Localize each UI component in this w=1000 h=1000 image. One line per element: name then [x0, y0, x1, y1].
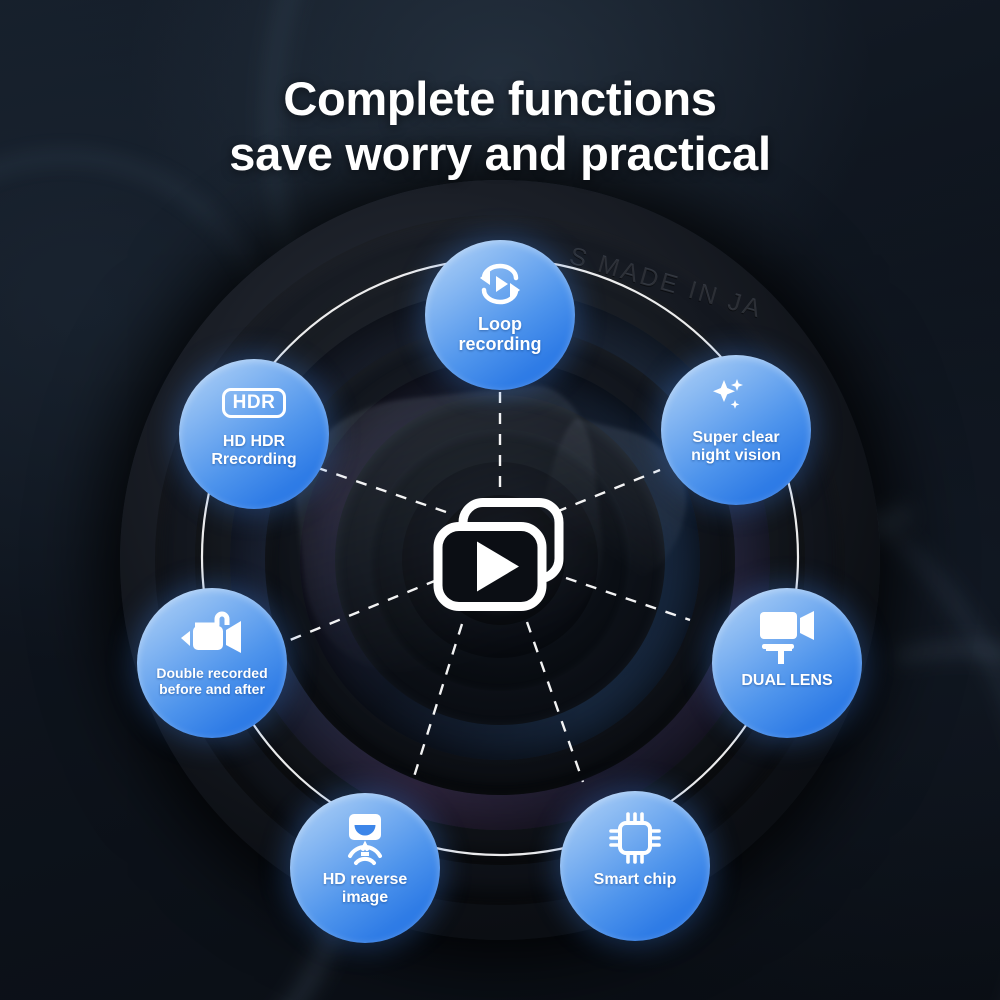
feature-label: Rrecording: [205, 451, 302, 469]
front-rear-camcorder-icon: [179, 606, 245, 662]
spoke-line: [556, 470, 660, 512]
feature-label: Super clear: [686, 429, 785, 447]
feature-label: image: [336, 889, 394, 907]
loop-play-icon: [472, 258, 528, 310]
center-logo: [430, 495, 570, 620]
spoke-line: [318, 468, 446, 512]
feature-badge-super-clear-night-vision[interactable]: Super clear night vision: [661, 355, 811, 505]
feature-badge-smart-chip[interactable]: Smart chip: [560, 791, 710, 941]
reverse-camera-sensor-icon: [336, 811, 394, 867]
feature-badge-double-recorded[interactable]: Double recorded before and after: [137, 588, 287, 738]
dual-camcorder-icon: [756, 606, 818, 668]
video-stack-play-icon: [430, 495, 570, 615]
feature-badge-loop-recording[interactable]: Loop recording: [425, 240, 575, 390]
spoke-line: [527, 622, 583, 782]
feature-label: before and after: [153, 682, 271, 698]
spoke-line: [412, 624, 462, 783]
feature-label: HD reverse: [317, 871, 414, 889]
feature-label: DUAL LENS: [735, 672, 838, 690]
feature-label: Double recorded: [150, 666, 273, 682]
hdr-badge-text: HDR: [222, 388, 287, 419]
feature-badge-hd-hdr-recording[interactable]: HDR HD HDR Rrecording: [179, 359, 329, 509]
feature-label: night vision: [685, 447, 787, 465]
moon-stars-icon: [708, 373, 764, 425]
spoke-line: [566, 578, 690, 620]
feature-badge-hd-reverse-image[interactable]: HD reverse image: [290, 793, 440, 943]
promo-infographic: S MADE IN JA Complete functions save wor…: [0, 0, 1000, 1000]
feature-label: Loop: [472, 314, 528, 334]
feature-label: recording: [452, 334, 547, 354]
feature-label: Smart chip: [588, 871, 683, 889]
hdr-badge-icon: HDR: [222, 377, 287, 429]
feature-label: HD HDR: [217, 433, 291, 451]
microchip-icon: [606, 809, 664, 867]
spoke-line: [290, 580, 437, 640]
feature-badge-dual-lens[interactable]: DUAL LENS: [712, 588, 862, 738]
